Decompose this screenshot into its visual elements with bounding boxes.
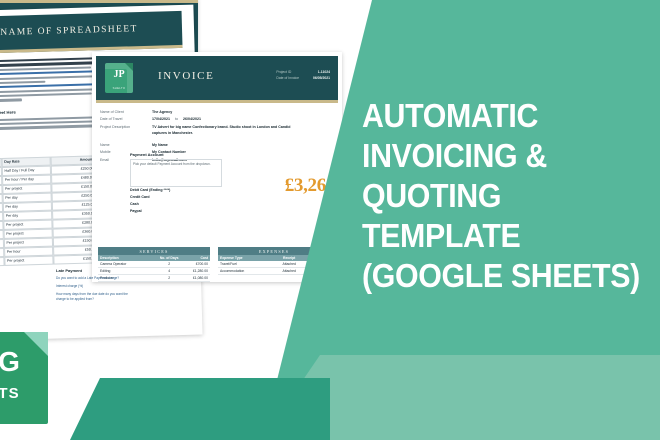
field-date-of-travel: Date of Travel 17/04/2021 to 26/04/2021 [100,116,334,122]
cell-days: 2 [154,261,185,267]
meta-value-date: 06/05/2021 [313,75,330,81]
cell-description: Camera Operator [98,261,154,267]
cell-dayrate: Per project [4,256,54,266]
sheets-logo-letter: G [0,346,48,378]
payment-account-heading: Payment Account [130,152,222,157]
cell-days: 4 [154,268,185,274]
headline-line-2: INVOICING & [362,136,660,176]
field-label: Project Description [100,124,152,136]
headline: AUTOMATIC INVOICING & QUOTING TEMPLATE (… [362,96,660,296]
payment-account-block: Payment Account Pick your default Paymen… [130,152,222,215]
late-payment-block: Late Payment Do you want to add a Late P… [56,268,134,302]
headline-line-4: TEMPLATE [362,216,660,256]
field-label: Date of Travel [100,116,152,122]
headline-line-3: QUOTING [362,176,660,216]
payment-option-paypal[interactable]: Paypal [130,208,222,215]
payment-option-debit[interactable]: Debit Card (Ending ****) [130,187,222,194]
late-payment-heading: Late Payment [56,268,134,273]
invoice-meta: Project ID Date of Invoice 1-11024 06/05… [276,69,330,81]
field-label: Name of Client [100,109,152,115]
field-value: The Agency [152,109,172,115]
thumbnail-canvas: NAME OF SPREADSHEET Name of your Spreads… [0,0,660,440]
field-value-from: 17/04/2021 [152,116,170,122]
invoice-header: JP SHELTO INVOICE Project ID Date of Inv… [96,56,338,103]
cell-days: 2 [154,275,185,281]
field-separator: to [175,116,178,122]
field-value: TV Advert for big name Confectionary bra… [152,124,302,136]
logo-caption: SHELTO [105,86,133,90]
field-label: Name [100,142,152,148]
cell-expense-type: Accommodation [218,268,274,274]
text-line [0,92,92,98]
sheets-logo-label: TS [0,385,48,402]
late-payment-question-1: Do you want to add a Late Payment charge… [56,276,134,281]
cell-cost: £1,280.00 [185,268,210,274]
payment-account-note: Pick your default Payment Account from t… [130,159,222,187]
spreadsheet-title: NAME OF SPREADSHEET [0,24,138,38]
services-caption: SERVICES [98,247,210,255]
field-value-to: 26/04/2021 [183,116,201,122]
late-payment-question-2: Interest charge (%) [56,284,134,289]
invoice-word: INVOICE [158,70,214,82]
cell-receipt: Attached [274,268,305,274]
google-sheets-logo-icon: G TS [0,332,48,424]
spreadsheet-titlebar: NAME OF SPREADSHEET [0,11,183,54]
payment-option-cash[interactable]: Cash [130,201,222,208]
field-contact-name: Name My Name [100,142,334,148]
meta-label-date: Date of Invoice [276,75,299,81]
company-logo-icon: JP SHELTO [105,63,133,93]
cell-cost: £700.00 [185,261,210,267]
cell-expense-type: Travel/Fuel [218,261,274,267]
text-line [0,99,22,103]
headline-line-5: (GOOGLE SHEETS) [362,256,660,296]
logo-initials: JP [105,69,133,80]
payment-option-credit[interactable]: Credit Card [130,194,222,201]
field-client-name: Name of Client The Agency [100,109,334,115]
cell-receipt: Attached [274,261,305,267]
late-payment-question-3: How many days from the due date do you w… [56,292,134,302]
cell-cost: £1,080.00 [185,275,210,281]
field-value: My Name [152,142,168,148]
field-project-description: Project Description TV Advert for big na… [100,124,334,136]
headline-line-1: AUTOMATIC [362,96,660,136]
